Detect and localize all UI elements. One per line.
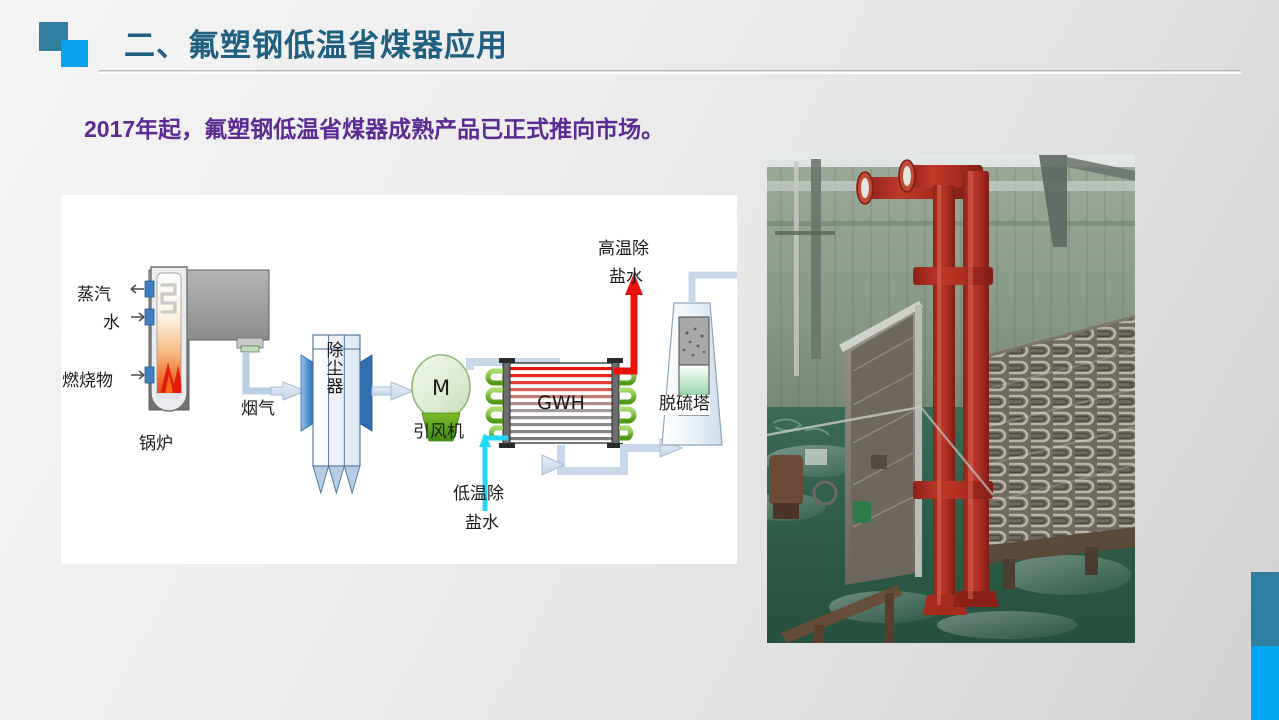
label-flue-gas: 烟气: [241, 400, 275, 420]
label-dust-collector: 除尘器: [322, 341, 342, 395]
label-low-temp-water-line1: 低温除: [453, 485, 504, 505]
gwh-heat-exchanger: GWH: [488, 358, 634, 448]
edge-accent-top: [1251, 572, 1279, 646]
process-diagram-panel: M: [61, 195, 737, 564]
desulfurization-tower: [662, 275, 737, 445]
exchanger-right-coils: [619, 371, 634, 438]
slide-root: 二、氟塑钢低温省煤器应用 2017年起，氟塑钢低温省煤器成熟产品已正式推向市场。: [0, 0, 1279, 720]
edge-accent-bar: [1251, 572, 1279, 720]
flue-gas-duct-arrow: [246, 353, 306, 400]
exchanger-left-coils: [488, 371, 503, 438]
fan-motor-label: M: [432, 376, 450, 400]
label-fuel: 燃烧物: [62, 372, 113, 392]
label-high-temp-water-line2: 盐水: [609, 268, 643, 288]
slide-subtitle: 2017年起，氟塑钢低温省煤器成熟产品已正式推向市场。: [84, 110, 664, 144]
label-induced-fan: 引风机: [413, 423, 464, 443]
dust-to-fan-arrow: [372, 382, 413, 400]
site-photo: [767, 155, 1135, 643]
label-water: 水: [103, 314, 120, 334]
high-temp-water-pipe: [614, 273, 643, 371]
site-photo-image: [767, 155, 1135, 643]
label-boiler: 锅炉: [139, 435, 173, 455]
label-low-temp-water-line2: 盐水: [465, 514, 499, 534]
page-title: 二、氟塑钢低温省煤器应用: [124, 20, 508, 65]
label-steam: 蒸汽: [77, 286, 111, 306]
steel-panel: [839, 301, 923, 585]
label-desulfurization-tower: 脱硫塔: [659, 395, 710, 415]
decorative-square-light-icon: [61, 40, 88, 67]
label-high-temp-water-line1: 高温除: [598, 240, 649, 260]
edge-accent-bottom: [1251, 646, 1279, 720]
exchanger-label: GWH: [537, 392, 585, 414]
title-divider: [98, 70, 1241, 74]
